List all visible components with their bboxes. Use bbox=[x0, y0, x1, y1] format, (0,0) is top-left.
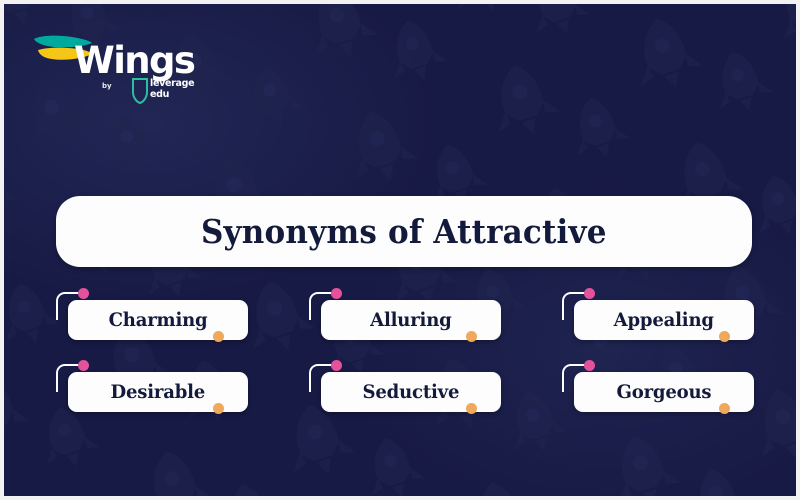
orange-dot-icon bbox=[719, 331, 730, 342]
pink-dot-icon bbox=[584, 360, 595, 371]
orange-dot-icon bbox=[466, 403, 477, 414]
synonym-item[interactable]: Appealing bbox=[562, 292, 754, 338]
orange-dot-icon bbox=[719, 403, 730, 414]
synonym-label: Seductive bbox=[363, 381, 460, 403]
synonym-item[interactable]: Gorgeous bbox=[562, 364, 754, 410]
leverage-edu-line2: edu bbox=[150, 89, 169, 100]
synonym-row: Desirable Seductive Gorgeous bbox=[56, 364, 756, 410]
brand-wordmark: Wings bbox=[74, 42, 194, 79]
synonym-label: Charming bbox=[109, 309, 208, 331]
title-card: Synonyms of Attractive bbox=[56, 196, 752, 267]
synonym-row: Charming Alluring Appealing bbox=[56, 292, 756, 338]
synonym-grid: Charming Alluring Appealing bbox=[56, 292, 756, 436]
orange-dot-icon bbox=[466, 331, 477, 342]
infographic-canvas: Wings by leverage edu Synonyms of Attrac… bbox=[0, 0, 800, 500]
orange-dot-icon bbox=[213, 403, 224, 414]
pink-dot-icon bbox=[584, 288, 595, 299]
orange-dot-icon bbox=[213, 331, 224, 342]
brand-logo: Wings by leverage edu bbox=[30, 30, 210, 110]
leverage-checkmark-icon bbox=[132, 78, 148, 104]
page-title: Synonyms of Attractive bbox=[201, 212, 607, 251]
synonym-item[interactable]: Desirable bbox=[56, 364, 248, 410]
brand-by-label: by bbox=[102, 82, 112, 90]
synonym-item[interactable]: Seductive bbox=[309, 364, 501, 410]
leverage-edu-sublogo: leverage edu bbox=[132, 78, 210, 104]
synonym-label: Alluring bbox=[370, 309, 451, 331]
synonym-label: Desirable bbox=[111, 381, 206, 403]
leverage-edu-text: leverage edu bbox=[150, 78, 194, 100]
pink-dot-icon bbox=[78, 360, 89, 371]
synonym-item[interactable]: Charming bbox=[56, 292, 248, 338]
pink-dot-icon bbox=[78, 288, 89, 299]
pink-dot-icon bbox=[331, 288, 342, 299]
synonym-item[interactable]: Alluring bbox=[309, 292, 501, 338]
leverage-edu-line1: leverage bbox=[150, 78, 194, 89]
synonym-label: Appealing bbox=[614, 309, 714, 331]
pink-dot-icon bbox=[331, 360, 342, 371]
synonym-label: Gorgeous bbox=[617, 381, 712, 403]
